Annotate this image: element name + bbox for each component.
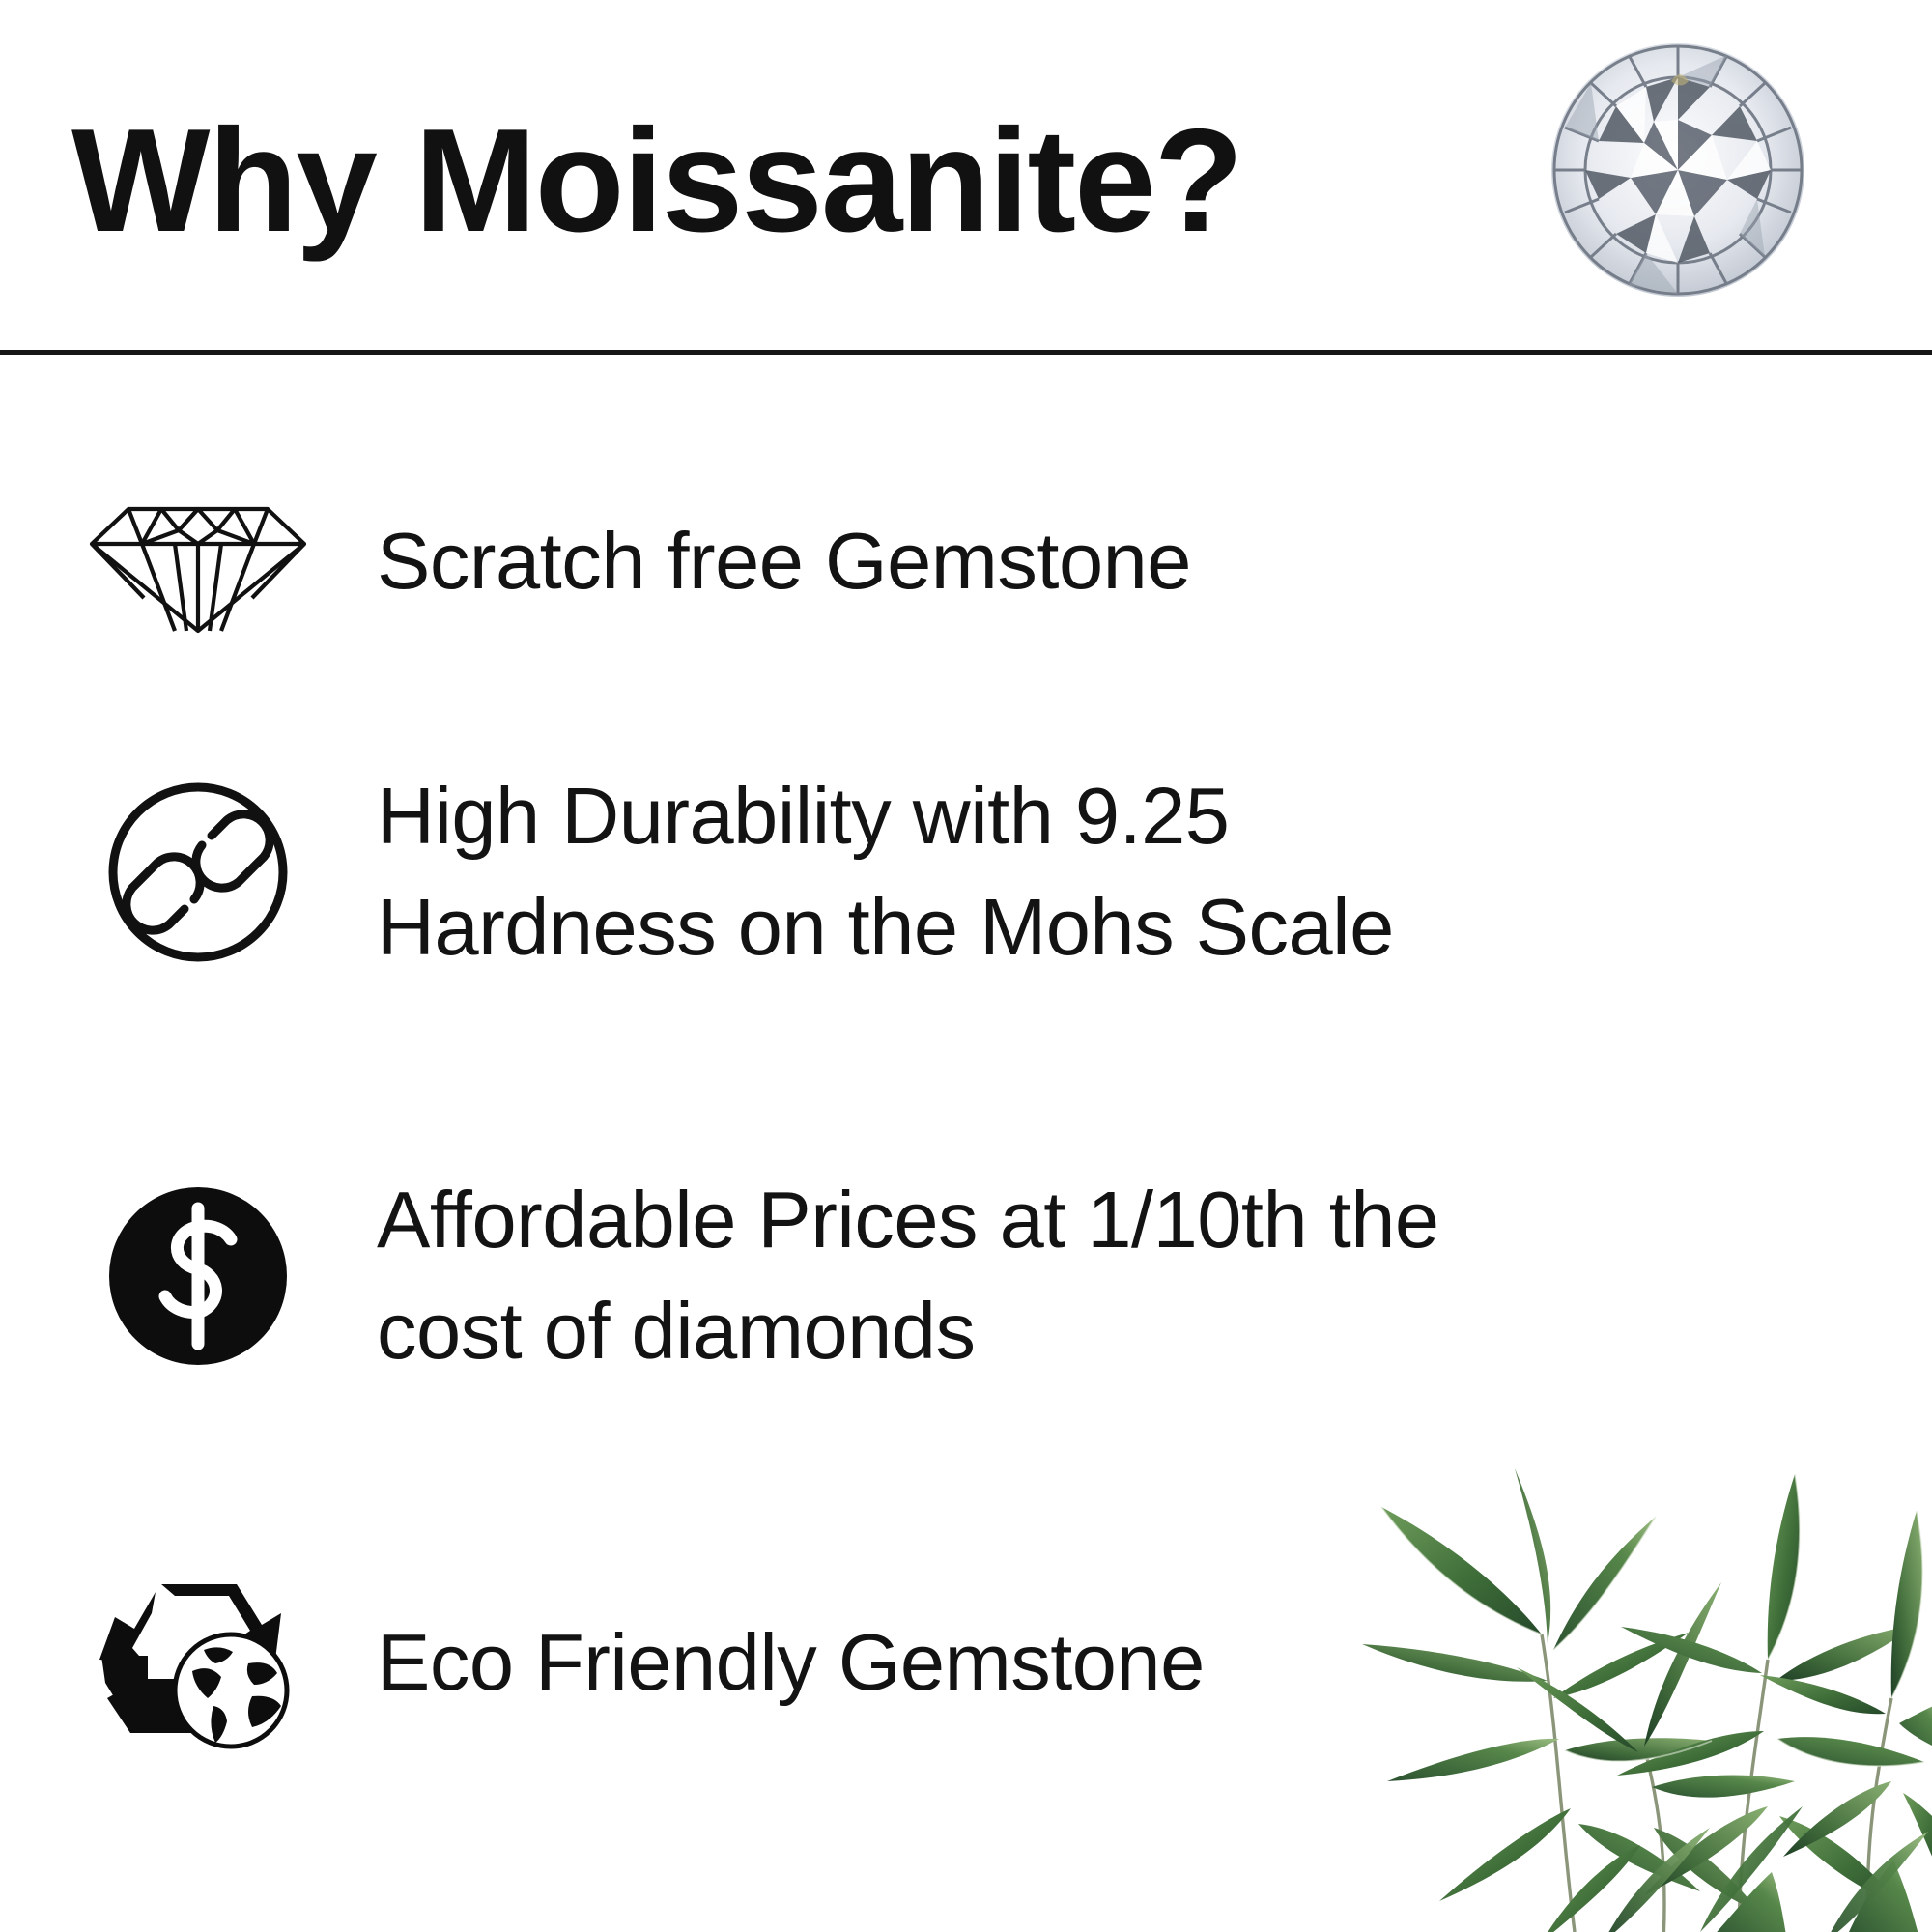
feature-line: Hardness on the Mohs Scale: [377, 872, 1835, 983]
recycle-globe-icon: [77, 1542, 319, 1783]
feature-line: Affordable Prices at 1/10th the: [377, 1165, 1835, 1276]
diamond-outline-icon: [77, 440, 319, 682]
list-item-label: Affordable Prices at 1/10th the cost of …: [377, 1165, 1932, 1386]
list-item-label: Scratch free Gemstone: [377, 506, 1932, 617]
header: Why Moissanite?: [0, 0, 1932, 354]
feature-line: cost of diamonds: [377, 1276, 1835, 1387]
page-title: Why Moissanite?: [71, 104, 1241, 259]
feature-line: High Durability with 9.25: [377, 761, 1835, 872]
diamond-gemstone-icon: [1538, 27, 1818, 307]
list-item: Affordable Prices at 1/10th the cost of …: [0, 1117, 1932, 1435]
list-item: Eco Friendly Gemstone: [0, 1503, 1932, 1822]
feature-line: Scratch free Gemstone: [377, 506, 1835, 617]
moissanite-infographic: Why Moissanite?: [0, 0, 1932, 1932]
list-item: Scratch free Gemstone: [0, 412, 1932, 711]
dollar-coin-icon: [77, 1155, 319, 1397]
feature-line: Eco Friendly Gemstone: [377, 1607, 1835, 1719]
list-item-label: High Durability with 9.25 Hardness on th…: [377, 761, 1932, 982]
feature-list: Scratch free Gemstone High Durability wi…: [0, 354, 1932, 1932]
list-item-label: Eco Friendly Gemstone: [377, 1607, 1932, 1719]
link-circle-icon: [77, 752, 319, 993]
list-item: High Durability with 9.25 Hardness on th…: [0, 713, 1932, 1032]
